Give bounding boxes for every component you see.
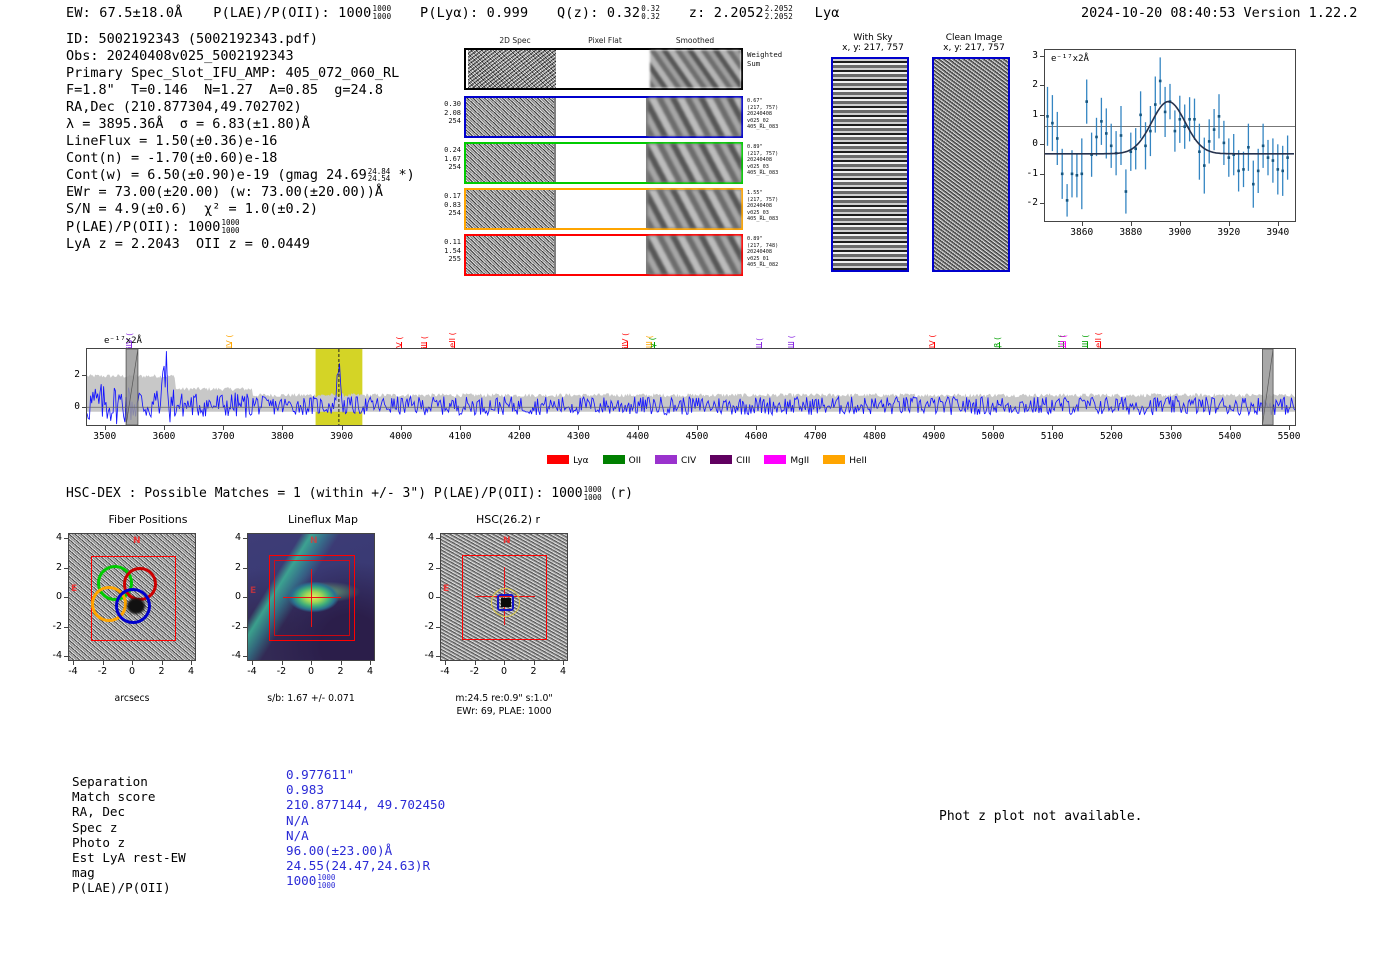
spectrum-xtick [105, 426, 106, 430]
spectrum-xtick [223, 426, 224, 430]
legend-label-oii: OII [629, 456, 641, 466]
spec2d-col-2: Smoothed [655, 36, 735, 45]
cutout-xtick [252, 661, 253, 665]
spec2d-row-3-info-0: 0.89" [747, 236, 793, 243]
spec2d-row-2-info-0: 1.55" [747, 190, 793, 197]
cutout-xtick-label: -2 [459, 666, 491, 677]
info-cont-n: Cont(n) = -1.70(±0.60)e-18 [66, 150, 415, 167]
cutout-xtick [563, 661, 564, 665]
cutout-xtick [445, 661, 446, 665]
info-gmag-lo: 24.54 [368, 175, 391, 183]
spec2d-row-3-2dspec [466, 236, 554, 274]
info-seeing: F=1.8" T=0.146 N=1.27 A=0.85 g=24.8 [66, 82, 415, 99]
cutout-xtick-label: -2 [87, 666, 119, 677]
spec2d-row-0 [464, 96, 743, 138]
spec2d-row-1-info-1: (217, 757) [747, 151, 793, 158]
cutout-ytick [436, 656, 440, 657]
spec2d-row-1-info-0: 0.89" [747, 144, 793, 151]
info-primary-spec: Primary Spec_Slot_IFU_AMP: 405_072_060_R… [66, 65, 415, 82]
spectrum-xtick-label: 4200 [493, 431, 545, 442]
full-spectrum-plot [86, 348, 1296, 426]
spectrum-xtick [578, 426, 579, 430]
spec2d-row-2 [464, 188, 743, 230]
cutout-ytick [243, 568, 247, 569]
cutout-xtick [191, 661, 192, 665]
cutout-xtick-label: -4 [236, 666, 268, 677]
spectrum-xtick-label: 4500 [671, 431, 723, 442]
spec2d-row-1-values: 0.241.67254 [429, 146, 461, 172]
spectrum-ytick [82, 375, 86, 376]
linefit-ytick-label: 2 [1010, 79, 1038, 90]
spectrum-xtick [282, 426, 283, 430]
cutout-xtick [132, 661, 133, 665]
header-z: z: 2.2052 [689, 5, 764, 21]
match-value-separation: 0.977611" [286, 767, 445, 782]
header-plae-lo: 1000 [372, 13, 391, 21]
cutout-ytick [64, 627, 68, 628]
legend-swatch-lyα [547, 455, 569, 464]
spectrum-xtick-label: 5300 [1145, 431, 1197, 442]
cutout-ytick-label: 2 [219, 562, 241, 573]
info-radec: RA,Dec (210.877304,49.702702) [66, 99, 415, 116]
linefit-units-annotation: e⁻¹⁷x2Å [1051, 54, 1089, 64]
info-obs: Obs: 20240408v025_5002192343 [66, 48, 415, 65]
spec2d-col-1: Pixel Flat [565, 36, 645, 45]
cutout-ytick [64, 597, 68, 598]
compass-east-fiber: E [71, 584, 77, 594]
cutout-ytick [64, 538, 68, 539]
cutout-xtick [534, 661, 535, 665]
photz-unavailable-message: Phot z plot not available. [939, 809, 1143, 824]
spectrum-xtick [756, 426, 757, 430]
header-z-lo: 2.2052 [765, 13, 793, 21]
cutout-xtick [311, 661, 312, 665]
linefit-ytick-label: 3 [1010, 50, 1038, 61]
header-plae-label: P(LAE)/P(OII): 1000 [213, 5, 371, 21]
header-plya: P(Lyα): 0.999 [420, 5, 528, 21]
info-sn-chi2: S/N = 4.9(±0.6) χ² = 1.0(±0.2) [66, 201, 415, 218]
match-value-photoz: N/A [286, 828, 445, 843]
spec2d-row-0-info-4: 405_RL_083 [747, 124, 793, 131]
spec2d-row-1-value-2: 254 [429, 163, 461, 172]
spectrum-xtick-label: 4600 [730, 431, 782, 442]
hscdex-title-tail: (r) [602, 486, 633, 501]
linefit-ytick [1040, 115, 1044, 116]
linefit-ytick-label: 0 [1010, 138, 1038, 149]
hscdex-title: HSC-DEX : Possible Matches = 1 (within +… [66, 486, 633, 501]
linefit-ytick [1040, 56, 1044, 57]
cutout-ytick-label: 4 [40, 532, 62, 543]
cutout-xtick-label: -4 [57, 666, 89, 677]
legend-label-ciii: CIII [736, 456, 750, 466]
spectrum-xtick-label: 4300 [552, 431, 604, 442]
match-key-photoz: Photo z [72, 835, 186, 850]
spec2d-row-1-value-1: 1.67 [429, 155, 461, 164]
spec2d-row-3-value-1: 1.54 [429, 247, 461, 256]
info-plae-lo: 1000 [221, 227, 239, 235]
match-key-specz: Spec z [72, 820, 186, 835]
linefit-xtick [1180, 222, 1181, 226]
spec2d-row-1-smoothed [648, 144, 741, 182]
spec2d-row-2-gap [556, 190, 646, 228]
spectrum-xtick [1052, 426, 1053, 430]
info-id: ID: 5002192343 (5002192343.pdf) [66, 31, 415, 48]
spec2d-row-0-smoothed [648, 98, 741, 136]
compass-north-fiber: N [133, 536, 141, 546]
spec2d-row-0-info-0: 0.67" [747, 98, 793, 105]
fiber-positions-image[interactable]: N E [68, 533, 196, 661]
match-value-radec: 210.877144, 49.702450 [286, 797, 445, 812]
legend-swatch-civ [655, 455, 677, 464]
spec2d-row-0-values: 0.302.08254 [429, 100, 461, 126]
spec2d-row-1-info-4: 405_RL_083 [747, 170, 793, 177]
panel-title-fiber-positions: Fiber Positions [68, 513, 228, 526]
spec2d-row-1-info-2: 20240408 [747, 157, 793, 164]
spec2d-row-0-info-1: (217, 757) [747, 105, 793, 112]
match-value-score: 0.983 [286, 782, 445, 797]
datestamp: 2024-10-20 08:40:53 Version 1.22.2 [1081, 5, 1357, 21]
cutout-xtick [103, 661, 104, 665]
cutout-ytick-label: -4 [40, 650, 62, 661]
spectrum-xtick [934, 426, 935, 430]
cutout-xtick [475, 661, 476, 665]
cutout-ytick-label: 0 [40, 591, 62, 602]
linefit-ytick-label: 1 [1010, 109, 1038, 120]
spectrum-units-annotation: e⁻¹⁷x2Å [104, 336, 142, 346]
spectrum-xtick-label: 4700 [789, 431, 841, 442]
spectrum-xtick-label: 3700 [197, 431, 249, 442]
spec2d-row-0-value-1: 2.08 [429, 109, 461, 118]
spec2d-row-2-values: 0.170.83254 [429, 192, 461, 218]
spectrum-xtick [1230, 426, 1231, 430]
cutout-ytick [64, 568, 68, 569]
cutout-ytick [243, 627, 247, 628]
spec2d-row-2-info-1: (217, 757) [747, 197, 793, 204]
cutout-ytick [436, 627, 440, 628]
linefit-ytick-label: -1 [1010, 168, 1038, 179]
linefit-xtick-label: 3880 [1107, 227, 1155, 238]
spectrum-xtick-label: 5400 [1204, 431, 1256, 442]
fiber-source-blob [127, 598, 145, 614]
lineflux-crosshair-v [311, 569, 312, 627]
cutout-with-sky-coords: x, y: 217, 757 [826, 43, 920, 54]
spec2d-row-3-info-4: 405_RL_082 [747, 262, 793, 269]
match-table-keys: Separation Match score RA, Dec Spec z Ph… [72, 774, 186, 896]
spectrum-xtick-label: 4000 [375, 431, 427, 442]
spec2d-row-3-smoothed [648, 236, 741, 274]
spec2d-row-3-value-0: 0.11 [429, 238, 461, 247]
weighted-sum-smoothed-image [650, 50, 741, 88]
legend-swatch-mgii [764, 455, 786, 464]
spectrum-xtick-label: 3800 [256, 431, 308, 442]
spec2d-montage: 2D Spec Pixel Flat Smoothed Weighted Sum… [437, 36, 785, 251]
compass-north-hsc: N [503, 536, 511, 546]
spectrum-xtick-label: 4400 [612, 431, 664, 442]
legend-label-civ: CIV [681, 456, 696, 466]
spec2d-row-3-info: 0.89"(217, 748)20240408v025_01405_RL_082 [747, 236, 793, 269]
spectrum-xtick-label: 3900 [316, 431, 368, 442]
spectrum-xtick [1289, 426, 1290, 430]
cutout-xtick-label: 0 [488, 666, 520, 677]
cutout-xtick-label: 4 [354, 666, 386, 677]
legend-label-lyα: Lyα [573, 456, 588, 466]
spec2d-row-3-gap [556, 236, 646, 274]
spec2d-row-0-info-3: v025_02 [747, 118, 793, 125]
spec2d-row-2-info-3: v025_03 [747, 210, 793, 217]
header-z-type: Lyα [815, 5, 840, 21]
hsc-xlabel: m:24.5 re:0.9" s:1.0" [424, 693, 584, 704]
spec2d-row-3-info-1: (217, 748) [747, 243, 793, 250]
cutout-ytick [243, 538, 247, 539]
spec2d-row-3-values: 0.111.54255 [429, 238, 461, 264]
legend-label-heii: HeII [849, 456, 867, 466]
info-gmag-tail: *) [390, 167, 414, 183]
linefit-xtick-label: 3860 [1058, 227, 1106, 238]
spectrum-xtick [401, 426, 402, 430]
cutout-ytick-label: -2 [412, 621, 434, 632]
cutout-ytick [436, 568, 440, 569]
cutout-xtick [370, 661, 371, 665]
spec2d-row-2-info-4: 405_RL_083 [747, 216, 793, 223]
cutout-xtick-label: 4 [547, 666, 579, 677]
header-ew: EW: 67.5±18.0Å [66, 5, 183, 21]
cutout-ytick-label: -2 [219, 621, 241, 632]
linefit-ytick [1040, 203, 1044, 204]
spec2d-row-0-value-0: 0.30 [429, 100, 461, 109]
cutout-ytick-label: 2 [412, 562, 434, 573]
spectrum-xtick-label: 4900 [908, 431, 960, 442]
match-value-plae: 100010001000 [286, 873, 445, 889]
spec2d-row-0-info-2: 20240408 [747, 111, 793, 118]
cutout-xtick-label: -4 [429, 666, 461, 677]
spectrum-xtick [342, 426, 343, 430]
cutout-xtick [282, 661, 283, 665]
spectrum-xtick [697, 426, 698, 430]
spectrum-ytick [82, 407, 86, 408]
lineflux-crosshair-h [283, 597, 341, 598]
spectrum-xtick [164, 426, 165, 430]
legend-swatch-oii [603, 455, 625, 464]
linefit-xtick [1082, 222, 1083, 226]
spectrum-xtick [638, 426, 639, 430]
cutout-xtick-label: 2 [325, 666, 357, 677]
spec2d-row-2-value-2: 254 [429, 209, 461, 218]
spec2d-row-3-info-3: v025_01 [747, 256, 793, 263]
lineflux-map-xlabel: s/b: 1.67 +/- 0.071 [231, 693, 391, 704]
panel-title-hsc: HSC(26.2) r [428, 513, 588, 526]
hsc-image[interactable]: N E [440, 533, 568, 661]
spectrum-ytick-label: 2 [56, 369, 80, 380]
cutout-ytick [243, 597, 247, 598]
spectrum-xtick-label: 5500 [1263, 431, 1315, 442]
weighted-sum-2dspec-image [468, 50, 556, 88]
spec2d-row-2-info-2: 20240408 [747, 203, 793, 210]
info-ewr: EWr = 73.00(±20.00) (w: 73.00(±20.00))Å [66, 184, 415, 201]
linefit-xtick-label: 3920 [1205, 227, 1253, 238]
cutout-xtick [162, 661, 163, 665]
header-qz: Q(z): 0.32 [557, 5, 640, 21]
cutout-ytick-label: 0 [219, 591, 241, 602]
info-wavelength: λ = 3895.36Å σ = 6.83(±1.80)Å [66, 116, 415, 133]
spec2d-row-0-value-2: 254 [429, 117, 461, 126]
cutout-ytick-label: -4 [219, 650, 241, 661]
spec2d-row-1-value-0: 0.24 [429, 146, 461, 155]
cutout-with-sky-image [831, 57, 909, 272]
cutout-ytick [436, 597, 440, 598]
spectrum-xtick [1111, 426, 1112, 430]
panel-title-lineflux-map: Lineflux Map [243, 513, 403, 526]
header-summary: EW: 67.5±18.0Å P(LAE)/P(OII): 1000100010… [66, 5, 840, 21]
match-table-values: 0.977611" 0.983 210.877144, 49.702450 N/… [286, 767, 445, 890]
match-key-mag: mag [72, 865, 186, 880]
legend-swatch-ciii [710, 455, 732, 464]
cutout-ytick-label: 0 [412, 591, 434, 602]
cutout-clean-pixels [932, 57, 1010, 272]
info-plae: P(LAE)/P(OII): 100010001000 [66, 219, 415, 236]
weighted-sum-label: Weighted Sum [747, 51, 782, 68]
fiber-positions-xlabel: arcsecs [52, 693, 212, 704]
spec2d-row-1-gap [556, 144, 646, 182]
info-lineflux: LineFlux = 1.50(±0.36)e-16 [66, 133, 415, 150]
spec2d-row-1 [464, 142, 743, 184]
match-key-score: Match score [72, 789, 186, 804]
match-value-estew: 96.00(±23.00)Å [286, 843, 445, 858]
spec2d-row-2-value-0: 0.17 [429, 192, 461, 201]
cutout-xtick-label: 0 [295, 666, 327, 677]
linefit-ytick [1040, 144, 1044, 145]
spec2d-row-1-info-3: v025_03 [747, 164, 793, 171]
spec2d-row-2-smoothed [648, 190, 741, 228]
spec2d-row-2-2dspec [466, 190, 554, 228]
spectrum-ytick-label: 0 [56, 401, 80, 412]
compass-east-lineflux: E [250, 586, 256, 596]
cutout-ytick-label: 4 [412, 532, 434, 543]
linefit-xtick-label: 3900 [1156, 227, 1204, 238]
spectrum-xtick [519, 426, 520, 430]
hscdex-plae-lo: 1000 [584, 494, 602, 502]
compass-east-hsc: E [443, 584, 449, 594]
cutout-xtick-label: 4 [175, 666, 207, 677]
match-value-specz: N/A [286, 813, 445, 828]
linefit-xtick [1278, 222, 1279, 226]
spec2d-row-0-gap [556, 98, 646, 136]
info-cont-w: Cont(w) = 6.50(±0.90)e-19 (gmag 24.6924.… [66, 167, 415, 184]
cutout-xtick-label: 0 [116, 666, 148, 677]
lineflux-map-image[interactable]: N E [247, 533, 375, 661]
spectrum-xtick [815, 426, 816, 430]
spectrum-xtick [1171, 426, 1172, 430]
legend-swatch-heii [823, 455, 845, 464]
spectrum-xtick-label: 5000 [967, 431, 1019, 442]
cutout-ytick [243, 656, 247, 657]
cutout-xtick [504, 661, 505, 665]
match-key-estew: Est LyA rest-EW [72, 850, 186, 865]
linefit-xtick-label: 3940 [1254, 227, 1302, 238]
spectrum-xtick [460, 426, 461, 430]
linefit-xtick [1131, 222, 1132, 226]
full-spectrum-svg [87, 349, 1295, 425]
spec2d-row-2-value-1: 0.83 [429, 201, 461, 210]
cutout-xtick-label: 2 [146, 666, 178, 677]
cutout-ytick-label: 4 [219, 532, 241, 543]
linefit-ytick [1040, 85, 1044, 86]
compass-north-lineflux: N [310, 536, 318, 546]
spectrum-xtick-label: 3500 [79, 431, 131, 442]
spectrum-xtick [993, 426, 994, 430]
hsc-source-core [501, 598, 511, 607]
spec2d-row-1-info: 0.89"(217, 757)20240408v025_03405_RL_083 [747, 144, 793, 177]
cutout-ytick-label: -2 [40, 621, 62, 632]
spectrum-xtick [875, 426, 876, 430]
linefit-ytick [1040, 174, 1044, 175]
legend-label-mgii: MgII [790, 456, 809, 466]
spectrum-legend: LyαOIICIVCIIIMgIIHeII [0, 455, 1400, 466]
header-qz-lo: 0.32 [641, 13, 660, 21]
linefit-xtick [1229, 222, 1230, 226]
match-plae-lo: 1000 [317, 882, 335, 890]
linefit-ytick-label: -2 [1010, 197, 1038, 208]
object-info-block: ID: 5002192343 (5002192343.pdf) Obs: 202… [66, 31, 415, 253]
match-key-separation: Separation [72, 774, 186, 789]
spec2d-row-3 [464, 234, 743, 276]
spectrum-xtick-label: 4800 [849, 431, 901, 442]
spec2d-row-0-2dspec [466, 98, 554, 136]
cutout-ytick [64, 656, 68, 657]
spectrum-xtick-label: 5100 [1026, 431, 1078, 442]
lineflux-redbox-inner [274, 560, 350, 636]
cutout-ytick [436, 538, 440, 539]
spec2d-row-2-info: 1.55"(217, 757)20240408v025_03405_RL_083 [747, 190, 793, 223]
cutout-xtick [341, 661, 342, 665]
cutout-ytick-label: 2 [40, 562, 62, 573]
match-key-plae: P(LAE)/P(OII) [72, 880, 186, 895]
cutout-xtick-label: -2 [266, 666, 298, 677]
cutout-xtick-label: 2 [518, 666, 550, 677]
spec2d-col-0: 2D Spec [475, 36, 555, 45]
cutout-xtick [73, 661, 74, 665]
spectrum-xtick-label: 5200 [1085, 431, 1137, 442]
match-value-mag: 24.55(24.47,24.63)R [286, 858, 445, 873]
cutout-clean-coords: x, y: 217, 757 [924, 43, 1024, 54]
emission-line-fit-svg [1045, 50, 1295, 221]
spec2d-row-3-info-2: 20240408 [747, 249, 793, 256]
spec2d-row-1-2dspec [466, 144, 554, 182]
emission-line-fit-plot [1044, 49, 1296, 222]
cutout-ytick-label: -4 [412, 650, 434, 661]
spectrum-xtick-label: 3600 [138, 431, 190, 442]
hsc-caption2: EWr: 69, PLAE: 1000 [424, 706, 584, 717]
spectrum-xtick-label: 4100 [434, 431, 486, 442]
spec2d-row-3-value-2: 255 [429, 255, 461, 264]
info-redshifts: LyA z = 2.2043 OII z = 0.0449 [66, 236, 415, 253]
match-key-radec: RA, Dec [72, 804, 186, 819]
spec2d-row-0-info: 0.67"(217, 757)20240408v025_02405_RL_083 [747, 98, 793, 131]
weighted-sum-row [464, 48, 743, 90]
